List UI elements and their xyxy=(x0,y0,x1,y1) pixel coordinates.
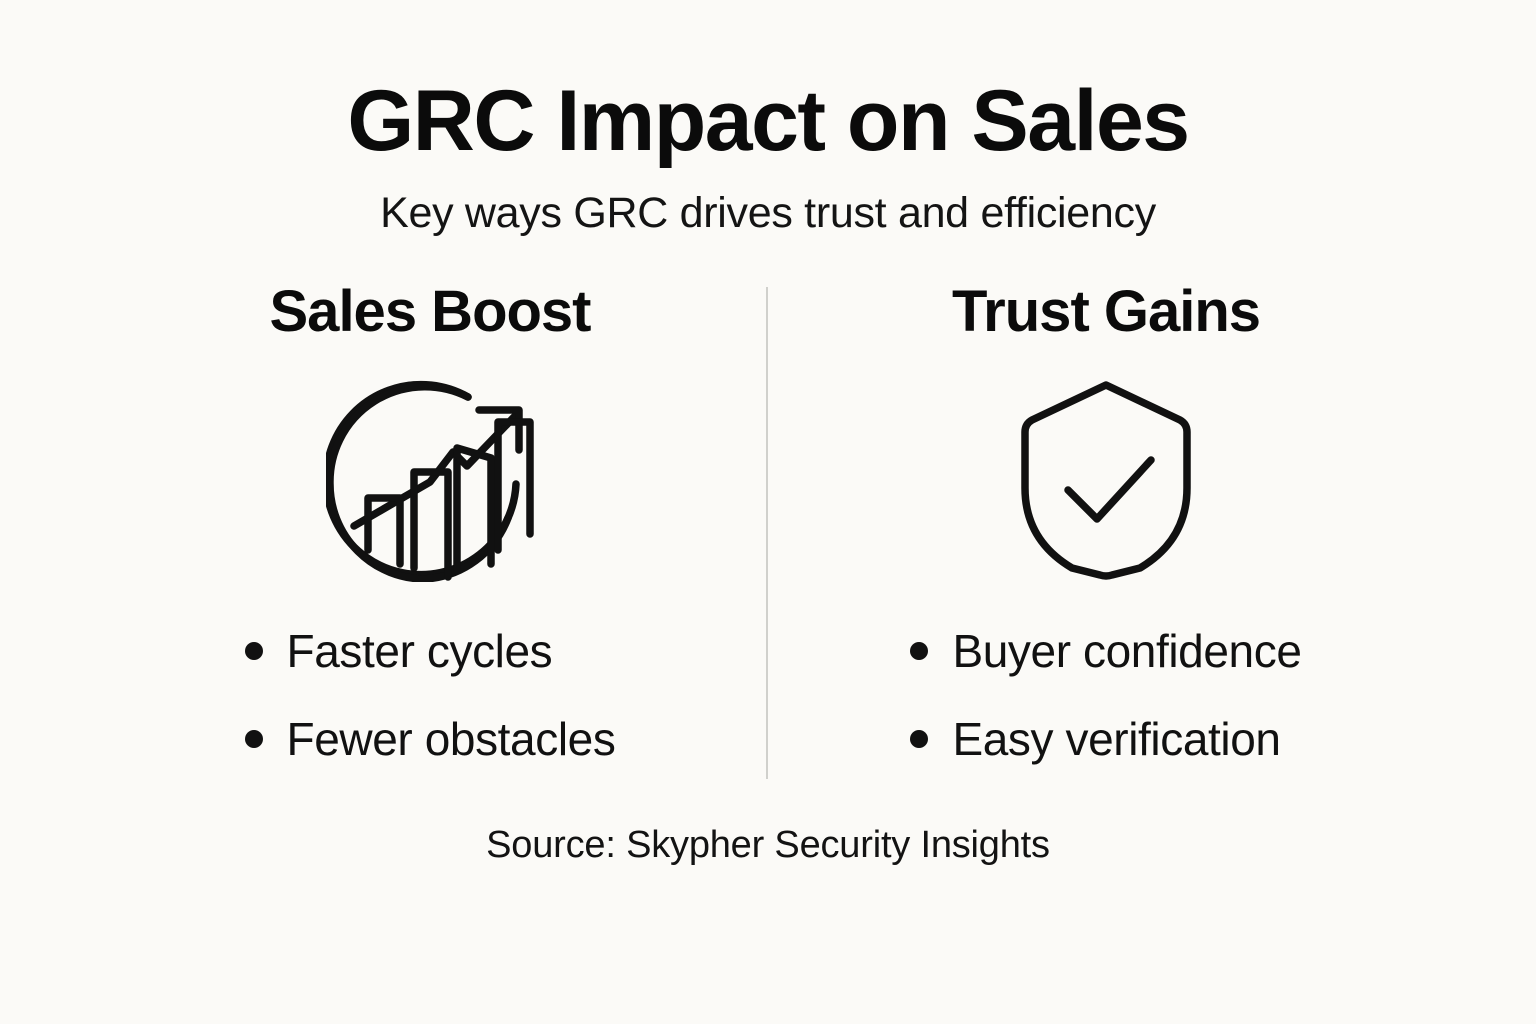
column-heading-trust-gains: Trust Gains xyxy=(952,283,1260,341)
bullet-dot-icon xyxy=(245,730,263,748)
column-heading-sales-boost: Sales Boost xyxy=(270,283,591,341)
columns-container: Sales Boost xyxy=(0,283,1536,764)
growth-chart-icon xyxy=(326,377,534,583)
bullet-list-trust-gains: Buyer confidence Easy verification xyxy=(910,627,1301,764)
bullet-label: Buyer confidence xyxy=(952,627,1301,675)
list-item: Easy verification xyxy=(910,715,1301,763)
bullet-label: Faster cycles xyxy=(287,627,553,675)
page-title: GRC Impact on Sales xyxy=(0,78,1536,166)
list-item: Faster cycles xyxy=(245,627,616,675)
bullet-list-sales-boost: Faster cycles Fewer obstacles xyxy=(245,627,616,764)
bullet-dot-icon xyxy=(245,642,263,660)
list-item: Fewer obstacles xyxy=(245,715,616,763)
header: GRC Impact on Sales Key ways GRC drives … xyxy=(0,78,1536,237)
infographic-root: GRC Impact on Sales Key ways GRC drives … xyxy=(0,0,1536,1024)
column-sales-boost: Sales Boost xyxy=(92,283,768,764)
page-subtitle: Key ways GRC drives trust and efficiency xyxy=(0,190,1536,237)
bullet-dot-icon xyxy=(910,730,928,748)
list-item: Buyer confidence xyxy=(910,627,1301,675)
bullet-dot-icon xyxy=(910,642,928,660)
shield-check-icon xyxy=(1020,377,1192,583)
bullet-label: Fewer obstacles xyxy=(287,715,616,763)
column-trust-gains: Trust Gains Buyer confidence Easy verifi… xyxy=(768,283,1444,764)
column-divider xyxy=(766,287,768,779)
bullet-label: Easy verification xyxy=(952,715,1280,763)
source-caption: Source: Skypher Security Insights xyxy=(486,824,1050,867)
